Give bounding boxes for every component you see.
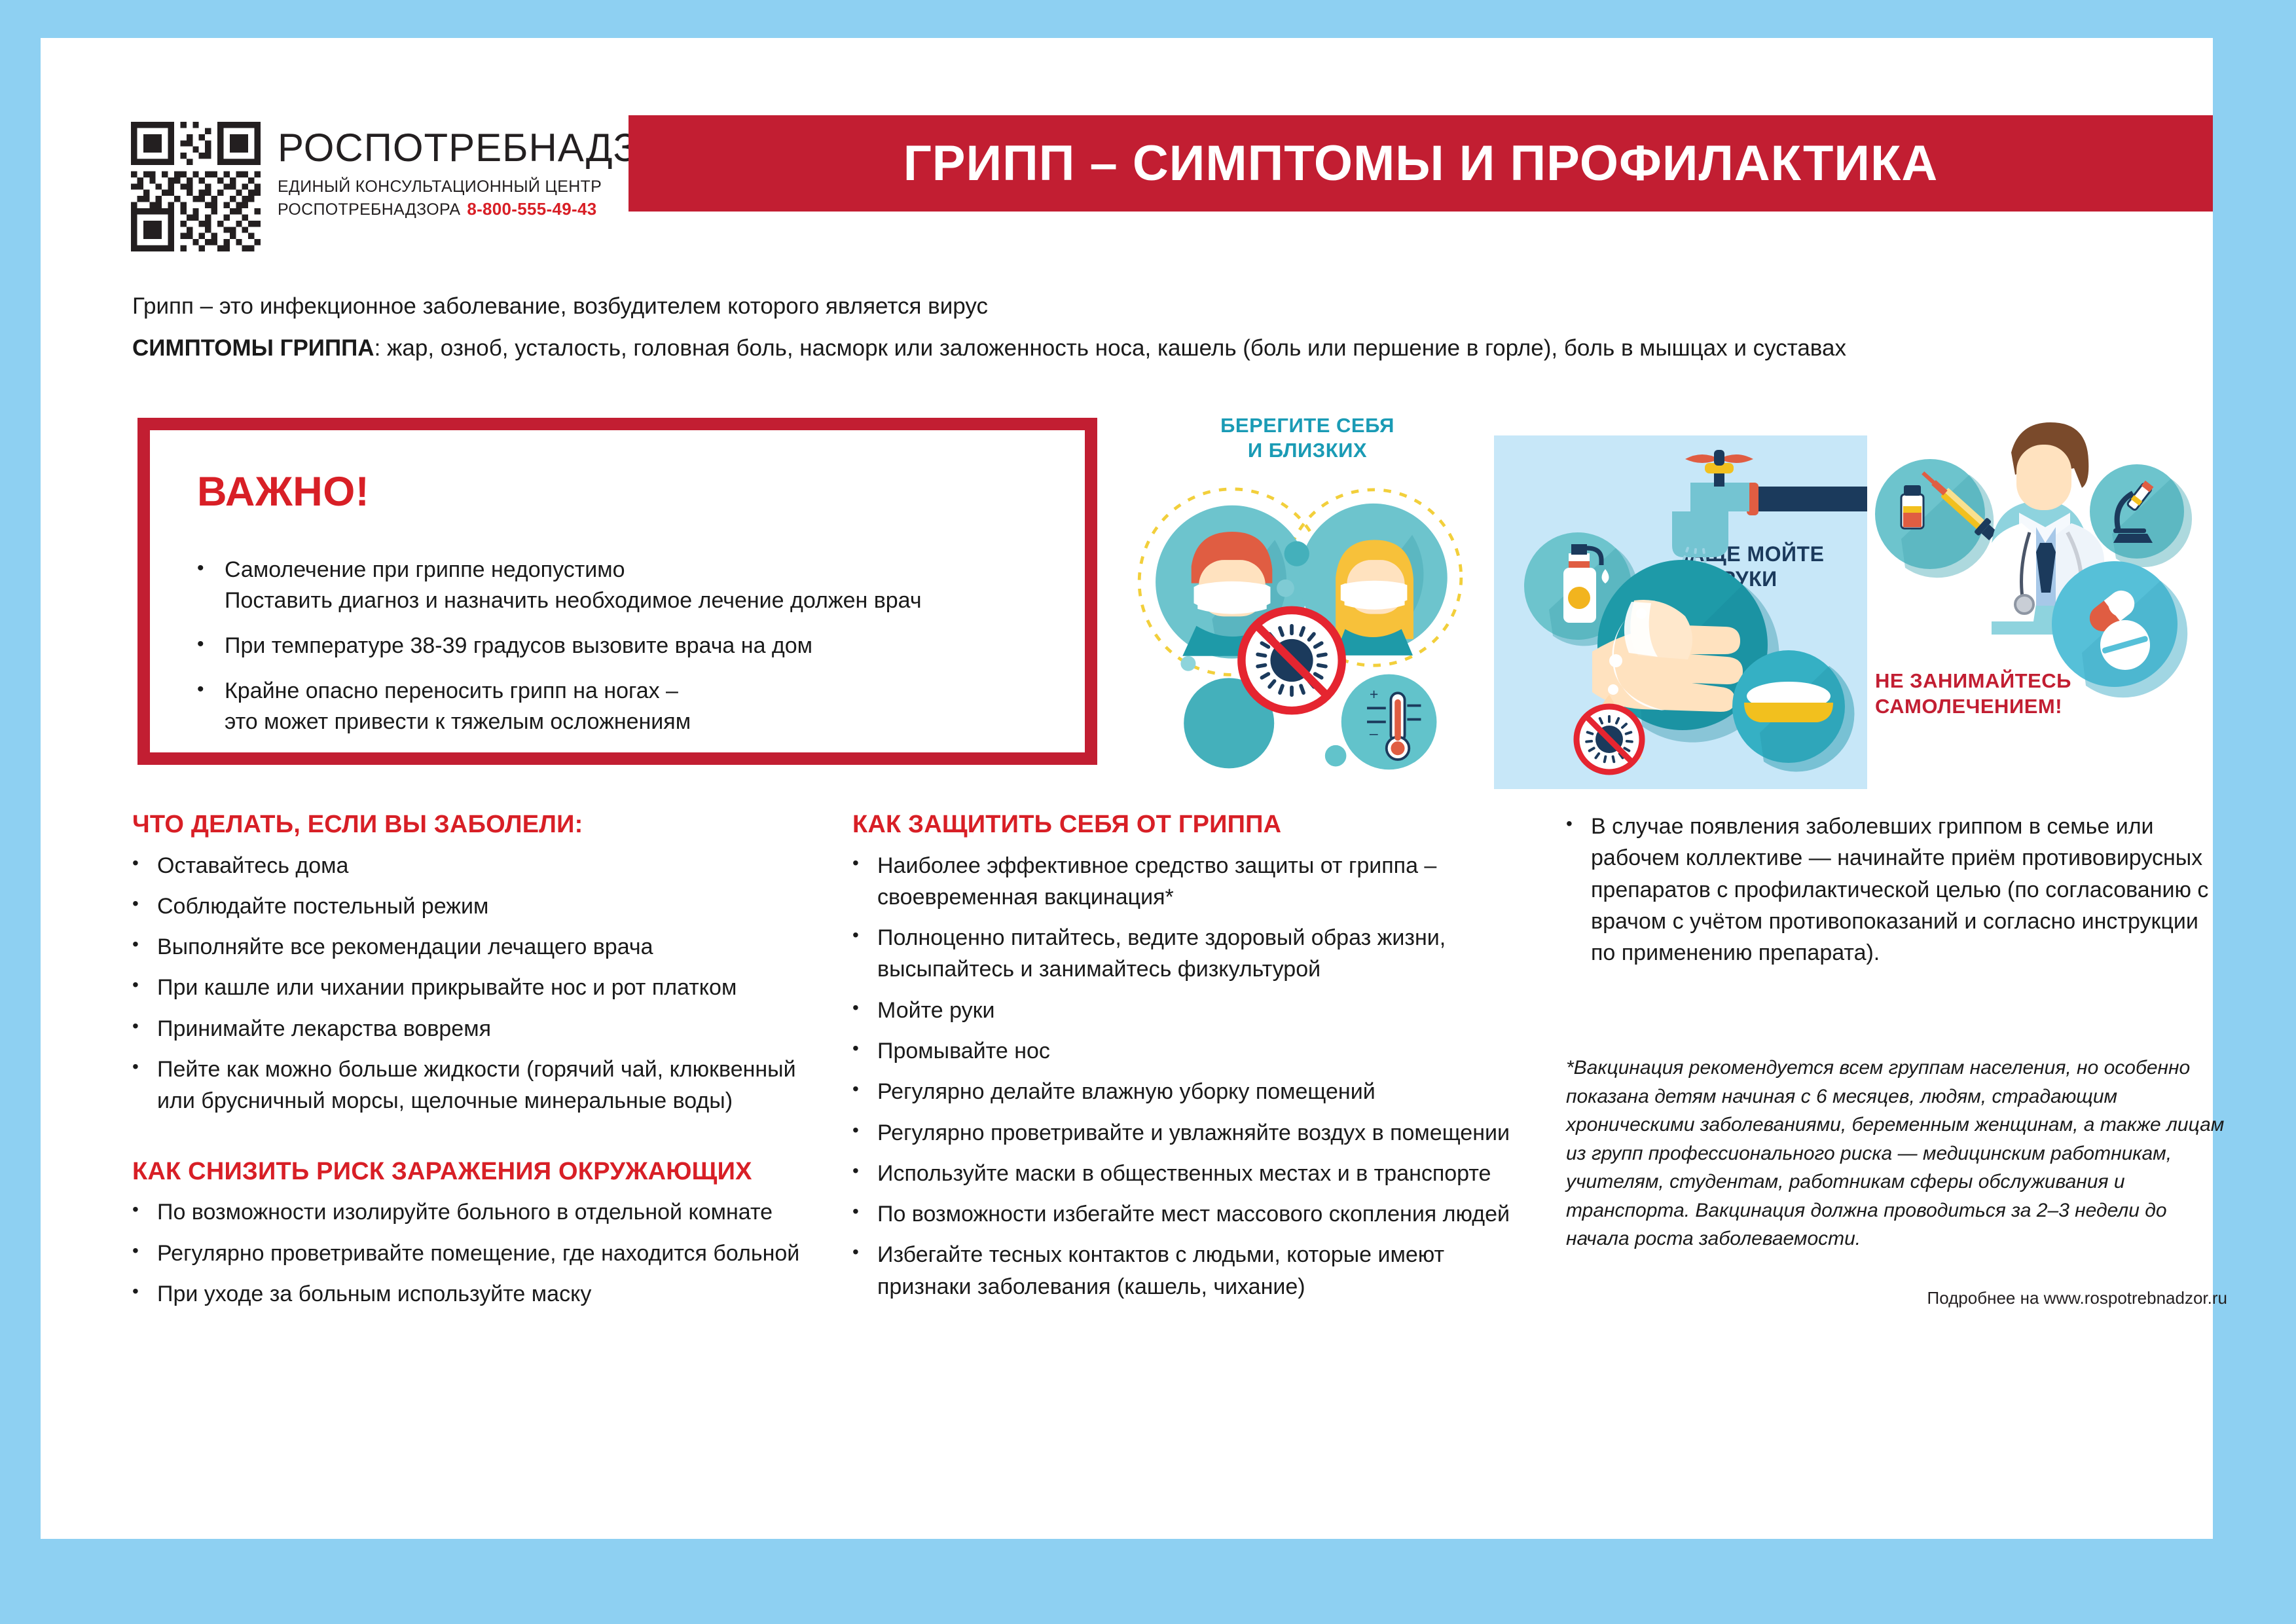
- bullet-dot: •: [132, 850, 140, 876]
- svg-text:+: +: [1370, 686, 1378, 703]
- list-item: • При температуре 38-39 градусов вызовит…: [197, 631, 1059, 661]
- protect-yourself-graphic: + –: [1121, 472, 1494, 773]
- bullet-dot: •: [132, 1278, 140, 1304]
- list-item-text: По возможности избегайте мест массового …: [877, 1198, 1510, 1230]
- intro-symptoms: СИМПТОМЫ ГРИППА: жар, озноб, усталость, …: [132, 332, 2162, 365]
- bullet-dot: •: [197, 631, 206, 661]
- symptoms-list: : жар, озноб, усталость, головная боль, …: [374, 335, 1846, 361]
- important-title: ВАЖНО!: [197, 468, 369, 515]
- symptoms-label: СИМПТОМЫ ГРИППА: [132, 335, 374, 361]
- bullet-dot: •: [852, 922, 860, 948]
- list-item-text: Регулярно проветривайте помещение, где н…: [157, 1238, 799, 1269]
- list-item-text: Используйте маски в общественных местах …: [877, 1158, 1491, 1189]
- bullet-dot: •: [132, 1238, 140, 1264]
- list-item-text: В случае появления заболевших гриппом в …: [1591, 811, 2227, 969]
- list-item-text: При кашле или чихании прикрывайте нос и …: [157, 972, 737, 1003]
- list-item-text: Избегайте тесных контактов с людьми, кот…: [877, 1239, 1514, 1302]
- column-left: ЧТО ДЕЛАТЬ, ЕСЛИ ВЫ ЗАБОЛЕЛИ: •Оставайте…: [132, 811, 807, 1319]
- bullet-dot: •: [852, 1198, 860, 1225]
- bullet-dot: •: [1566, 811, 1574, 837]
- what-to-do-list: •Оставайтесь дома •Соблюдайте постельный…: [132, 850, 807, 1117]
- bullet-dot: •: [197, 676, 206, 737]
- rospotrebnadzor-logo-block: РОСПОТРЕБНАДЗОР ЕДИНЫЙ КОНСУЛЬТАЦИОННЫЙ …: [131, 122, 695, 251]
- list-item: •Регулярно делайте влажную уборку помеще…: [852, 1076, 1514, 1107]
- doctor-graphic: [1867, 401, 2214, 709]
- list-item: •Регулярно проветривайте помещение, где …: [132, 1238, 807, 1269]
- list-item-text: Пейте как можно больше жидкости (горячий…: [157, 1054, 807, 1117]
- illustration-see-a-doctor: НЕ ЗАНИМАЙТЕСЬ САМОЛЕЧЕНИЕМ!: [1867, 395, 2214, 775]
- hotline-phone[interactable]: 8-800-555-49-43: [467, 199, 596, 219]
- bullet-dot: •: [197, 555, 206, 616]
- list-item: •В случае появления заболевших гриппом в…: [1566, 811, 2227, 969]
- section-heading-what-to-do: ЧТО ДЕЛАТЬ, ЕСЛИ ВЫ ЗАБОЛЕЛИ:: [132, 811, 807, 840]
- bullet-dot: •: [852, 995, 860, 1021]
- bullet-dot: •: [132, 1054, 140, 1080]
- illustration-wash-hands: ЧАЩЕ МОЙТЕ РУКИ: [1494, 435, 1867, 789]
- list-item-text: Мойте руки: [877, 995, 995, 1026]
- list-item-text: При уходе за больным используйте маску: [157, 1278, 591, 1310]
- reduce-risk-list: •По возможности изолируйте больного в от…: [132, 1196, 807, 1310]
- list-item-text: Оставайтесь дома: [157, 850, 348, 881]
- list-item-text: По возможности изолируйте больного в отд…: [157, 1196, 773, 1228]
- list-item: •Избегайте тесных контактов с людьми, ко…: [852, 1239, 1514, 1302]
- bullet-dot: •: [852, 1239, 860, 1265]
- list-item: •Полноценно питайтесь, ведите здоровый о…: [852, 922, 1514, 986]
- bullet-dot: •: [852, 1076, 860, 1102]
- bullet-dot: •: [132, 972, 140, 998]
- website-link[interactable]: Подробнее на www.rospotrebnadzor.ru: [1927, 1288, 2227, 1308]
- list-item: •Мойте руки: [852, 995, 1514, 1026]
- list-item: •Промывайте нос: [852, 1035, 1514, 1067]
- page-title: ГРИПП – СИМПТОМЫ И ПРОФИЛАКТИКА: [903, 135, 1939, 192]
- list-item-text: Выполняйте все рекомендации лечащего вра…: [157, 931, 653, 963]
- protect-caption: БЕРЕГИТЕ СЕБЯ И БЛИЗКИХ: [1121, 413, 1494, 463]
- column-middle: КАК ЗАЩИТИТЬ СЕБЯ ОТ ГРИППА •Наиболее эф…: [852, 811, 1514, 1312]
- list-item: •При уходе за больным используйте маску: [132, 1278, 807, 1310]
- list-item: •Используйте маски в общественных местах…: [852, 1158, 1514, 1189]
- bullet-dot: •: [852, 1117, 860, 1143]
- important-item-text: Самолечение при гриппе недопустимо Поста…: [225, 555, 922, 616]
- list-item-text: Полноценно питайтесь, ведите здоровый об…: [877, 922, 1514, 986]
- bullet-dot: •: [132, 931, 140, 957]
- list-item: •При кашле или чихании прикрывайте нос и…: [132, 972, 807, 1003]
- how-to-protect-list: •Наиболее эффективное средство защиты от…: [852, 850, 1514, 1302]
- intro-text-block: Грипп – это инфекционное заболевание, во…: [132, 290, 2162, 365]
- list-item: •Наиболее эффективное средство защиты от…: [852, 850, 1514, 913]
- list-item: •Соблюдайте постельный режим: [132, 891, 807, 922]
- section-heading-reduce-risk: КАК СНИЗИТЬ РИСК ЗАРАЖЕНИЯ ОКРУЖАЮЩИХ: [132, 1158, 807, 1187]
- illustration-strip: БЕРЕГИТЕ СЕБЯ И БЛИЗКИХ: [1114, 395, 2214, 775]
- bullet-dot: •: [852, 1035, 860, 1061]
- list-item: • Самолечение при гриппе недопустимо Пос…: [197, 555, 1059, 616]
- important-callout-box: ВАЖНО! • Самолечение при гриппе недопуст…: [137, 418, 1097, 765]
- poster-header: РОСПОТРЕБНАДЗОР ЕДИНЫЙ КОНСУЛЬТАЦИОННЫЙ …: [41, 38, 2213, 234]
- svg-text:–: –: [1370, 724, 1378, 741]
- list-item: •По возможности избегайте мест массового…: [852, 1198, 1514, 1230]
- qr-code-icon: [131, 122, 261, 251]
- bullet-dot: •: [132, 1013, 140, 1039]
- list-item-text: Наиболее эффективное средство защиты от …: [877, 850, 1514, 913]
- list-item: •Пейте как можно больше жидкости (горячи…: [132, 1054, 807, 1117]
- list-item-text: Принимайте лекарства вовремя: [157, 1013, 491, 1044]
- bullet-dot: •: [132, 1196, 140, 1223]
- list-item: •По возможности изолируйте больного в от…: [132, 1196, 807, 1228]
- column-right: •В случае появления заболевших гриппом в…: [1566, 811, 2227, 1253]
- intro-definition: Грипп – это инфекционное заболевание, во…: [132, 290, 2162, 323]
- list-item: •Регулярно проветривайте и увлажняйте во…: [852, 1117, 1514, 1149]
- bullet-dot: •: [852, 1158, 860, 1184]
- important-bullet-list: • Самолечение при гриппе недопустимо Пос…: [197, 555, 1059, 752]
- vaccination-footnote: *Вакцинация рекомендуется всем группам н…: [1566, 1054, 2227, 1253]
- consult-center-org: РОСПОТРЕБНАДЗОРА: [278, 200, 460, 219]
- wash-hands-graphic: [1494, 435, 1867, 789]
- list-item: • Крайне опасно переносить грипп на нога…: [197, 676, 1059, 737]
- poster-page: РОСПОТРЕБНАДЗОР ЕДИНЫЙ КОНСУЛЬТАЦИОННЫЙ …: [41, 38, 2213, 1539]
- list-item-text: Соблюдайте постельный режим: [157, 891, 488, 922]
- bullet-dot: •: [132, 891, 140, 917]
- title-banner: ГРИПП – СИМПТОМЫ И ПРОФИЛАКТИКА: [629, 115, 2213, 212]
- no-selfmedication-caption: НЕ ЗАНИМАЙТЕСЬ САМОЛЕЧЕНИЕМ!: [1875, 669, 2071, 720]
- list-item: •Принимайте лекарства вовремя: [132, 1013, 807, 1044]
- list-item-text: Регулярно проветривайте и увлажняйте воз…: [877, 1117, 1510, 1149]
- list-item: •Выполняйте все рекомендации лечащего вр…: [132, 931, 807, 963]
- section-heading-how-to-protect: КАК ЗАЩИТИТЬ СЕБЯ ОТ ГРИППА: [852, 811, 1514, 840]
- important-item-text: Крайне опасно переносить грипп на ногах …: [225, 676, 691, 737]
- list-item: •Оставайтесь дома: [132, 850, 807, 881]
- illustration-protect-yourself: БЕРЕГИТЕ СЕБЯ И БЛИЗКИХ: [1121, 395, 1494, 775]
- prophylaxis-list: •В случае появления заболевших гриппом в…: [1566, 811, 2227, 969]
- list-item-text: Промывайте нос: [877, 1035, 1050, 1067]
- bullet-dot: •: [852, 850, 860, 876]
- list-item-text: Регулярно делайте влажную уборку помещен…: [877, 1076, 1376, 1107]
- important-item-text: При температуре 38-39 градусов вызовите …: [225, 631, 812, 661]
- section-spacer: [132, 1126, 807, 1158]
